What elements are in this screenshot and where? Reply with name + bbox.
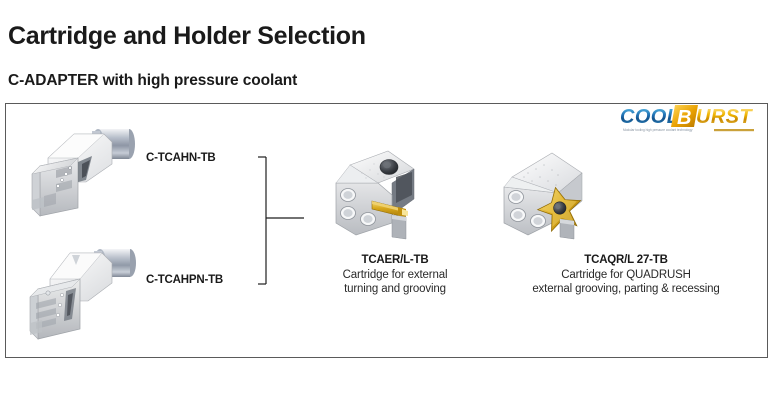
product-image-cartridge-right: [498, 143, 610, 243]
coolburst-logo: COOL B URST Modular tooling high pressur…: [618, 101, 768, 137]
part-code-adapter-bottom: C-TCAHPN-TB: [146, 274, 223, 286]
part-desc-cartridge-right-line2: external grooving, parting & recessing: [490, 282, 762, 296]
logo-tagline: Modular tooling high pressure coolant te…: [623, 128, 693, 132]
part-code-cartridge-right: TCAQR/L 27-TB: [490, 253, 762, 268]
product-image-cartridge-center: [328, 143, 436, 243]
part-desc-cartridge-center-line2: turning and grooving: [310, 282, 480, 296]
product-image-adapter-top: [26, 112, 144, 220]
catalog-page: Cartridge and Holder Selection C-ADAPTER…: [0, 0, 775, 400]
part-code-cartridge-center: TCAER/L-TB: [310, 253, 480, 268]
logo-text-cool: COOL: [620, 106, 679, 128]
logo-text-b: B: [677, 107, 691, 129]
product-image-adapter-bottom: [26, 233, 144, 343]
logo-text-urst: URST: [696, 106, 753, 128]
bracket-connector: [258, 152, 310, 297]
part-desc-cartridge-center-line1: Cartridge for external: [310, 268, 480, 282]
caption-cartridge-right: TCAQR/L 27-TB Cartridge for QUADRUSH ext…: [490, 253, 762, 296]
page-subtitle: C-ADAPTER with high pressure coolant: [8, 72, 297, 90]
caption-cartridge-center: TCAER/L-TB Cartridge for external turnin…: [310, 253, 480, 296]
page-title: Cartridge and Holder Selection: [8, 22, 366, 51]
logo-underbar: [714, 129, 754, 131]
part-code-adapter-top: C-TCAHN-TB: [146, 152, 216, 164]
part-desc-cartridge-right-line1: Cartridge for QUADRUSH: [490, 268, 762, 282]
